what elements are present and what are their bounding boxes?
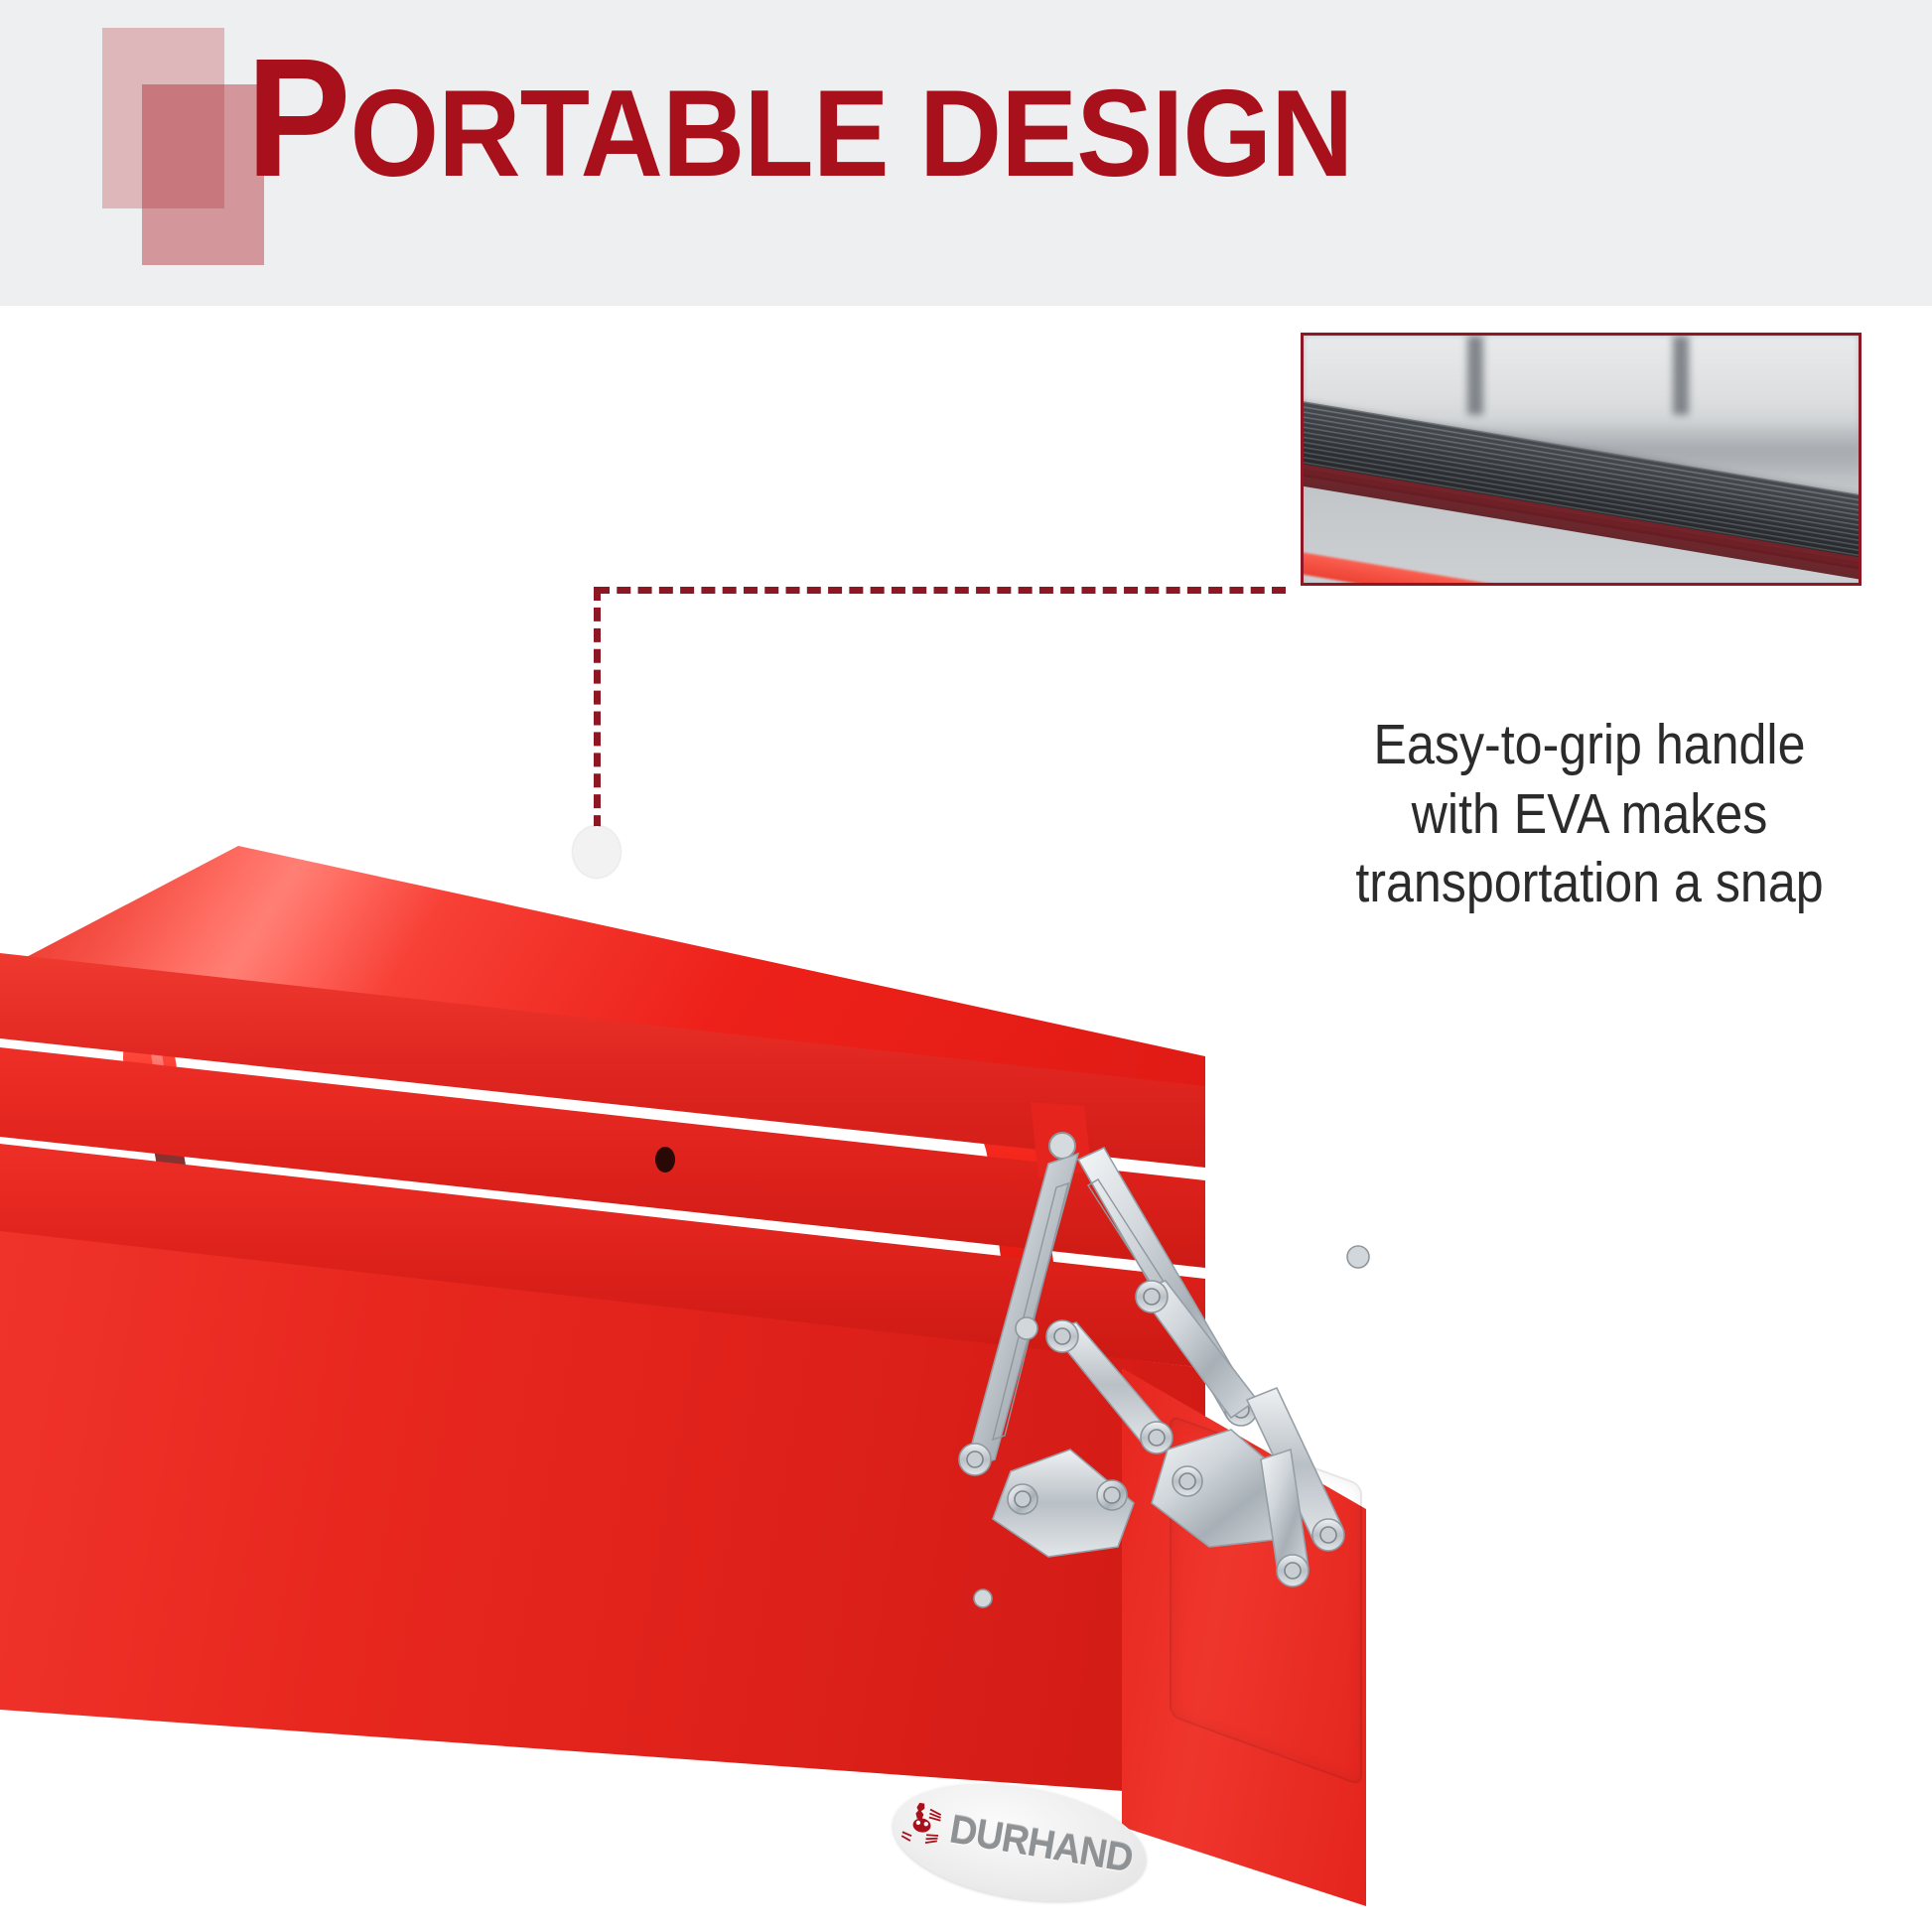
page-title-rest: ORTABLE DESIGN <box>350 66 1353 203</box>
page-title: PORTABLE DESIGN <box>246 34 1352 203</box>
durhand-crab-logo-icon <box>899 1799 946 1851</box>
lid-vent-hole <box>655 1147 675 1173</box>
header-band: PORTABLE DESIGN <box>0 0 1932 306</box>
inset-blurred-post-2 <box>1673 336 1689 415</box>
inset-blurred-post-1 <box>1467 336 1483 415</box>
page-title-initial: P <box>246 24 350 212</box>
hinge-arm-mid-1 <box>1046 1320 1173 1453</box>
bracket-rivet <box>1049 1133 1075 1159</box>
hinge-arm-mid-2 <box>1136 1281 1257 1418</box>
brand-name: DURHAND <box>947 1807 1136 1881</box>
inset-photo-handle-closeup <box>1301 333 1862 586</box>
cantilever-hinge-linkage <box>953 1102 1469 1658</box>
hinge-arm-left-long <box>959 1154 1078 1475</box>
hinge-plate-lower-left <box>993 1449 1134 1557</box>
callout-line-horizontal <box>596 587 1286 594</box>
screenshot-canvas: PORTABLE DESIGN Easy-to-grip handle with… <box>0 0 1932 1932</box>
hinge-rivet <box>967 1451 983 1467</box>
